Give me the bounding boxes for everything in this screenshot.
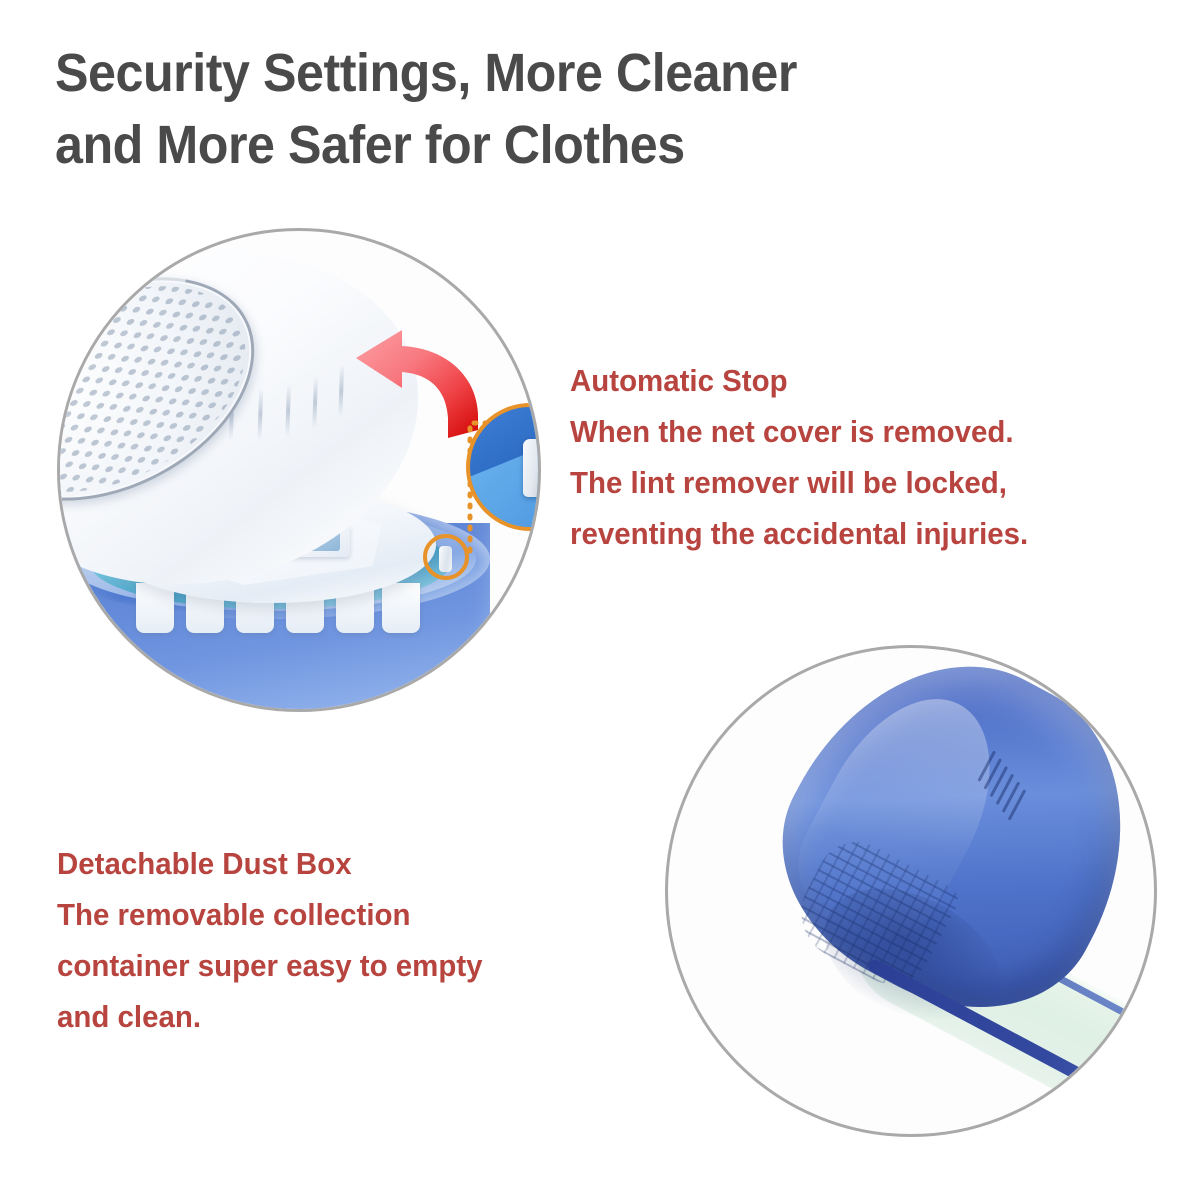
feature-line-2: container super easy to empty	[57, 950, 483, 981]
safety-pin-magnified	[523, 439, 541, 497]
feature-line-3: reventing the accidental injuries.	[570, 518, 1028, 549]
dust-box-photo	[665, 645, 1157, 1137]
safety-pin-small	[439, 546, 452, 572]
lint-remover-open-photo	[57, 228, 541, 712]
feature-line-2: The lint remover will be locked,	[570, 467, 1007, 498]
infographic-canvas: Security Settings, More Cleaner and More…	[0, 0, 1200, 1200]
feature-title-automatic-stop: Automatic Stop	[570, 365, 788, 396]
feature-line-1: The removable collection	[57, 899, 411, 930]
feature-title-detachable-dust-box: Detachable Dust Box	[57, 848, 352, 879]
feature-line-3: and clean.	[57, 1001, 201, 1032]
page-title: Security Settings, More Cleaner and More…	[55, 38, 1041, 182]
feature-automatic-stop: Automatic Stop When the net cover is rem…	[570, 355, 1052, 559]
safety-pin-highlight-ring	[423, 534, 469, 580]
feature-detachable-dust-box: Detachable Dust Box The removable collec…	[57, 838, 505, 1042]
feature-line-1: When the net cover is removed.	[570, 416, 1014, 447]
